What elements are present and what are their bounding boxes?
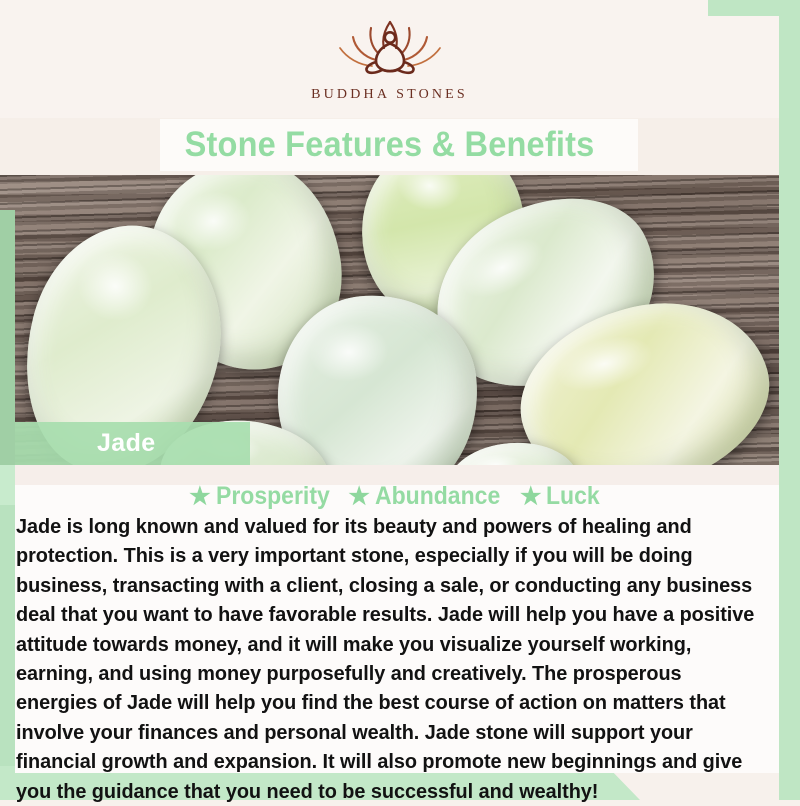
- stone-name-band: Jade: [15, 422, 250, 465]
- star-icon: ★: [520, 485, 542, 509]
- benefit-label: Luck: [546, 482, 600, 511]
- decor-right-strip: [779, 0, 800, 800]
- benefit-label: Prosperity: [216, 482, 330, 511]
- benefit-item: ★ Prosperity: [189, 482, 339, 511]
- benefit-item: ★ Luck: [520, 482, 605, 511]
- benefit-label: Abundance: [375, 482, 500, 511]
- decor-left-strip-overlay: [0, 210, 15, 465]
- benefit-item: ★ Abundance: [348, 482, 511, 511]
- stone-description: Jade is long known and valued for its be…: [16, 512, 757, 806]
- star-icon: ★: [348, 485, 370, 509]
- star-icon: ★: [189, 485, 211, 509]
- brand-header: BUDDHA STONES: [0, 0, 779, 118]
- stone-name-label: Jade: [97, 429, 156, 458]
- brand-wordmark: BUDDHA STONES: [311, 87, 468, 103]
- benefits-row: ★ Prosperity ★ Abundance ★ Luck: [15, 481, 779, 512]
- page-title: Stone Features & Benefits: [27, 120, 751, 170]
- lotus-meditation-icon: [331, 15, 449, 81]
